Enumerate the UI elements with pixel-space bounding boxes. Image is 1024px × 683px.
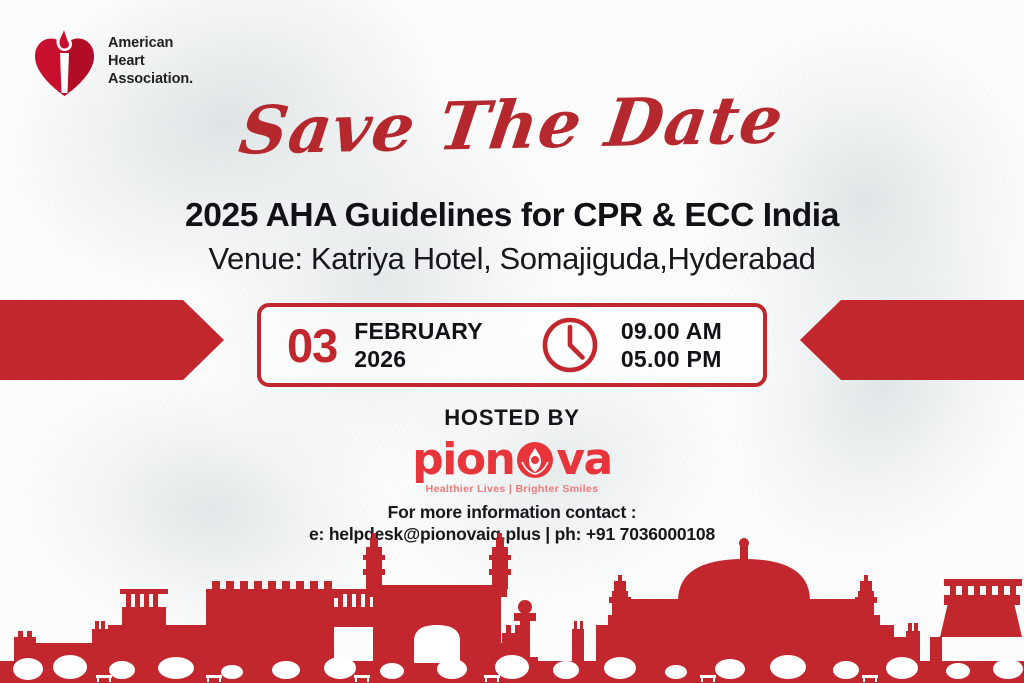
heart-torch-icon xyxy=(33,27,96,97)
clock-icon xyxy=(541,316,599,374)
hyderabad-skyline-silhouette xyxy=(0,533,1024,683)
contact-heading: For more information contact : xyxy=(0,502,1024,523)
event-year: 2026 xyxy=(354,345,483,373)
aha-word-line-3: Association. xyxy=(108,71,193,89)
event-title: 2025 AHA Guidelines for CPR & ECC India xyxy=(0,197,1024,236)
pionova-logo: pi o n va Healthier Lives | Brighter Smi… xyxy=(412,434,612,495)
pionova-word-part-2: n xyxy=(485,438,515,482)
pionova-tagline: Healthier Lives | Brighter Smiles xyxy=(426,483,599,495)
event-headline-block: 2025 AHA Guidelines for CPR & ECC India … xyxy=(0,197,1024,277)
american-heart-association-logo: American Heart Association. xyxy=(33,27,193,97)
event-day-number: 03 xyxy=(287,322,337,369)
flame-circle-icon xyxy=(515,440,555,480)
event-month-year: FEBRUARY 2026 xyxy=(354,317,483,373)
hosted-by-section: HOSTED BY pi o n va Healthier Lives | Br… xyxy=(0,405,1024,495)
save-the-date-poster: American Heart Association. Save The Dat… xyxy=(0,0,1024,683)
pionova-wordmark: pi o n va xyxy=(412,434,612,482)
pionova-letter-o-first: o xyxy=(456,438,485,482)
left-arrow-banner xyxy=(0,300,224,380)
date-time-card: 03 FEBRUARY 2026 09.00 AM 05.00 PM xyxy=(257,303,767,387)
save-the-date-heading: Save The Date xyxy=(0,92,1024,158)
event-month: FEBRUARY xyxy=(354,317,483,345)
right-arrow-banner xyxy=(800,300,1024,380)
pionova-word-part-1: pi xyxy=(412,438,456,482)
pionova-word-part-3: va xyxy=(556,438,611,482)
event-time-start: 09.00 AM xyxy=(621,317,722,345)
event-venue: Venue: Katriya Hotel, Somajiguda,Hyderab… xyxy=(0,240,1024,277)
aha-wordmark: American Heart Association. xyxy=(108,35,193,88)
aha-word-line-1: American xyxy=(108,35,193,53)
event-time-end: 05.00 PM xyxy=(621,345,722,373)
save-the-date-script-text: Save The Date xyxy=(236,86,788,163)
event-time-range: 09.00 AM 05.00 PM xyxy=(621,317,722,373)
aha-word-line-2: Heart xyxy=(108,53,193,71)
hosted-by-label: HOSTED BY xyxy=(0,405,1024,431)
